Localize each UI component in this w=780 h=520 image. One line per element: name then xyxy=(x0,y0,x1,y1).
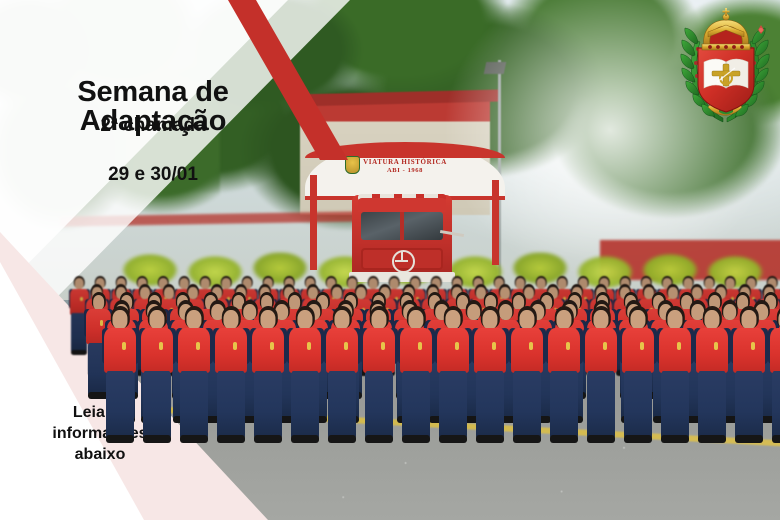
student-head xyxy=(150,310,165,328)
student-navy-pants xyxy=(180,371,209,438)
student-navy-pants xyxy=(106,371,135,438)
student-red-shirt xyxy=(104,328,136,373)
student-figure xyxy=(733,306,765,468)
uniform-badge xyxy=(418,342,422,349)
student-figure xyxy=(585,306,617,468)
student-shoes xyxy=(180,435,209,444)
student-navy-pants xyxy=(550,371,579,438)
student-shoes xyxy=(698,435,727,444)
student-red-shirt xyxy=(474,328,506,373)
student-navy-pants xyxy=(143,371,172,438)
student-red-shirt xyxy=(733,328,765,373)
student-shoes xyxy=(291,435,320,444)
student-head xyxy=(631,310,646,328)
student-red-shirt xyxy=(770,328,780,373)
student-head xyxy=(372,310,387,328)
student-head xyxy=(557,310,572,328)
student-shoes xyxy=(365,435,394,444)
student-navy-pants xyxy=(772,371,780,438)
student-navy-pants xyxy=(439,371,468,438)
student-red-shirt xyxy=(585,328,617,373)
student-red-shirt xyxy=(511,328,543,373)
student-figure xyxy=(400,306,432,468)
student-navy-pants xyxy=(735,371,764,438)
uniform-badge xyxy=(122,342,126,349)
student-figure xyxy=(474,306,506,468)
student-red-shirt xyxy=(215,328,247,373)
student-navy-pants xyxy=(513,371,542,438)
student-red-shirt xyxy=(548,328,580,373)
student-head xyxy=(668,310,683,328)
uniform-badge xyxy=(344,342,348,349)
student-head xyxy=(93,295,105,309)
uniform-badge xyxy=(233,342,237,349)
student-figure xyxy=(363,306,395,468)
uniform-badge xyxy=(640,342,644,349)
student-shoes xyxy=(217,435,246,444)
student-shoes xyxy=(772,435,780,444)
student-figure xyxy=(548,306,580,468)
shield-crest-icon xyxy=(676,6,774,136)
student-head xyxy=(261,310,276,328)
student-figure xyxy=(215,306,247,468)
student-shoes xyxy=(624,435,653,444)
student-navy-pants xyxy=(254,371,283,438)
student-navy-pants xyxy=(587,371,616,438)
uniform-badge xyxy=(566,342,570,349)
student-navy-pants xyxy=(476,371,505,438)
uniform-badge xyxy=(196,342,200,349)
student-navy-pants xyxy=(698,371,727,438)
student-figure xyxy=(104,306,136,468)
student-head xyxy=(520,310,535,328)
uniform-badge xyxy=(307,342,311,349)
student-figure xyxy=(289,306,321,468)
student-navy-pants xyxy=(624,371,653,438)
student-shoes xyxy=(550,435,579,444)
student-figure xyxy=(178,306,210,468)
student-shoes xyxy=(328,435,357,444)
student-head xyxy=(113,310,128,328)
student-shoes xyxy=(476,435,505,444)
student-head xyxy=(594,310,609,328)
student-red-shirt xyxy=(437,328,469,373)
student-navy-pants xyxy=(365,371,394,438)
student-figure xyxy=(141,306,173,468)
student-red-shirt xyxy=(326,328,358,373)
student-red-shirt xyxy=(363,328,395,373)
crown-icon xyxy=(702,8,750,50)
student-navy-pants xyxy=(217,371,246,438)
uniform-badge xyxy=(677,342,681,349)
student-shoes xyxy=(439,435,468,444)
student-red-shirt xyxy=(289,328,321,373)
student-head xyxy=(742,310,757,328)
student-shoes xyxy=(661,435,690,444)
uniform-badge xyxy=(529,342,533,349)
student-navy-pants xyxy=(328,371,357,438)
student-head xyxy=(298,310,313,328)
uniform-badge xyxy=(751,342,755,349)
uniform-badge xyxy=(492,342,496,349)
poster-canvas: VIATURA HISTÓRICA ABI - 1968 Semana de A… xyxy=(0,0,780,520)
student-red-shirt xyxy=(178,328,210,373)
student-head xyxy=(75,278,84,289)
uniform-badge xyxy=(100,320,103,326)
student-head xyxy=(224,310,239,328)
student-head xyxy=(187,310,202,328)
student-navy-pants xyxy=(661,371,690,438)
student-shoes xyxy=(254,435,283,444)
student-shoes xyxy=(587,435,616,444)
uniform-badge xyxy=(381,342,385,349)
student-head xyxy=(335,310,350,328)
student-head xyxy=(483,310,498,328)
poster-dates: 29 e 30/01 xyxy=(8,165,298,184)
uniform-badge xyxy=(270,342,274,349)
student-figure xyxy=(770,306,780,468)
student-shoes xyxy=(143,435,172,444)
student-red-shirt xyxy=(252,328,284,373)
uniform-badge xyxy=(603,342,607,349)
student-navy-pants xyxy=(402,371,431,438)
student-figure xyxy=(326,306,358,468)
student-red-shirt xyxy=(659,328,691,373)
student-head xyxy=(409,310,424,328)
uniform-badge xyxy=(80,297,82,301)
student-shoes xyxy=(735,435,764,444)
student-head xyxy=(705,310,720,328)
student-red-shirt xyxy=(141,328,173,373)
uniform-badge xyxy=(714,342,718,349)
poster-subtitle: 2ª chamada xyxy=(8,116,298,135)
student-figure xyxy=(696,306,728,468)
student-figure xyxy=(252,306,284,468)
student-red-shirt xyxy=(400,328,432,373)
student-head xyxy=(446,310,461,328)
student-figure xyxy=(622,306,654,468)
student-red-shirt xyxy=(696,328,728,373)
student-shoes xyxy=(513,435,542,444)
uniform-badge xyxy=(159,342,163,349)
student-navy-pants xyxy=(291,371,320,438)
student-shoes xyxy=(106,435,135,444)
student-shoes xyxy=(71,350,87,355)
student-shoes xyxy=(402,435,431,444)
student-figure xyxy=(511,306,543,468)
student-red-shirt xyxy=(622,328,654,373)
student-figure xyxy=(659,306,691,468)
student-figure xyxy=(437,306,469,468)
uniform-badge xyxy=(455,342,459,349)
